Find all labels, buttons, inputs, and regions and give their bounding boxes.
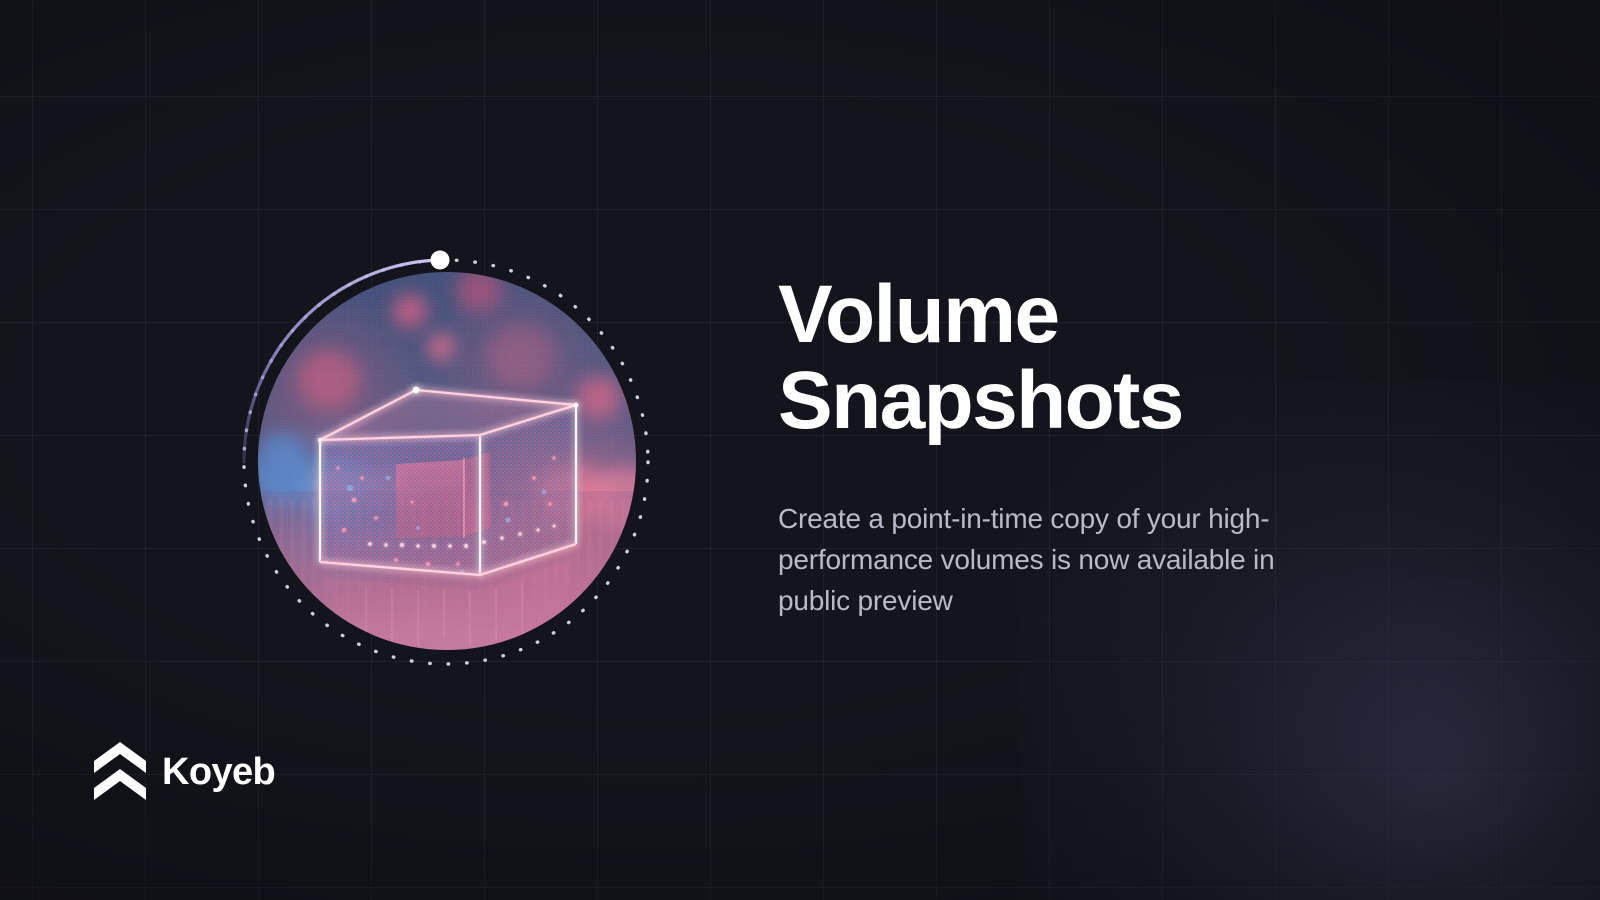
promo-banner: Volume Snapshots Create a point-in-time … <box>0 0 1600 900</box>
image-grain <box>258 272 636 650</box>
brand-name: Koyeb <box>162 753 275 791</box>
orbit-marker-dot[interactable] <box>431 251 450 270</box>
headline-line-1: Volume <box>778 269 1058 360</box>
hero-copy: Volume Snapshots Create a point-in-time … <box>778 272 1398 621</box>
headline-line-2: Snapshots <box>778 355 1183 446</box>
hero-artwork <box>228 230 648 670</box>
hero-subtitle: Create a point-in-time copy of your high… <box>778 498 1343 621</box>
koyeb-chevron-logo-icon <box>94 742 146 800</box>
brand-logo[interactable]: Koyeb <box>94 742 275 800</box>
background-glow-accent <box>1240 580 1600 900</box>
page-title: Volume Snapshots <box>778 272 1398 444</box>
hero-image-circle <box>258 272 636 650</box>
